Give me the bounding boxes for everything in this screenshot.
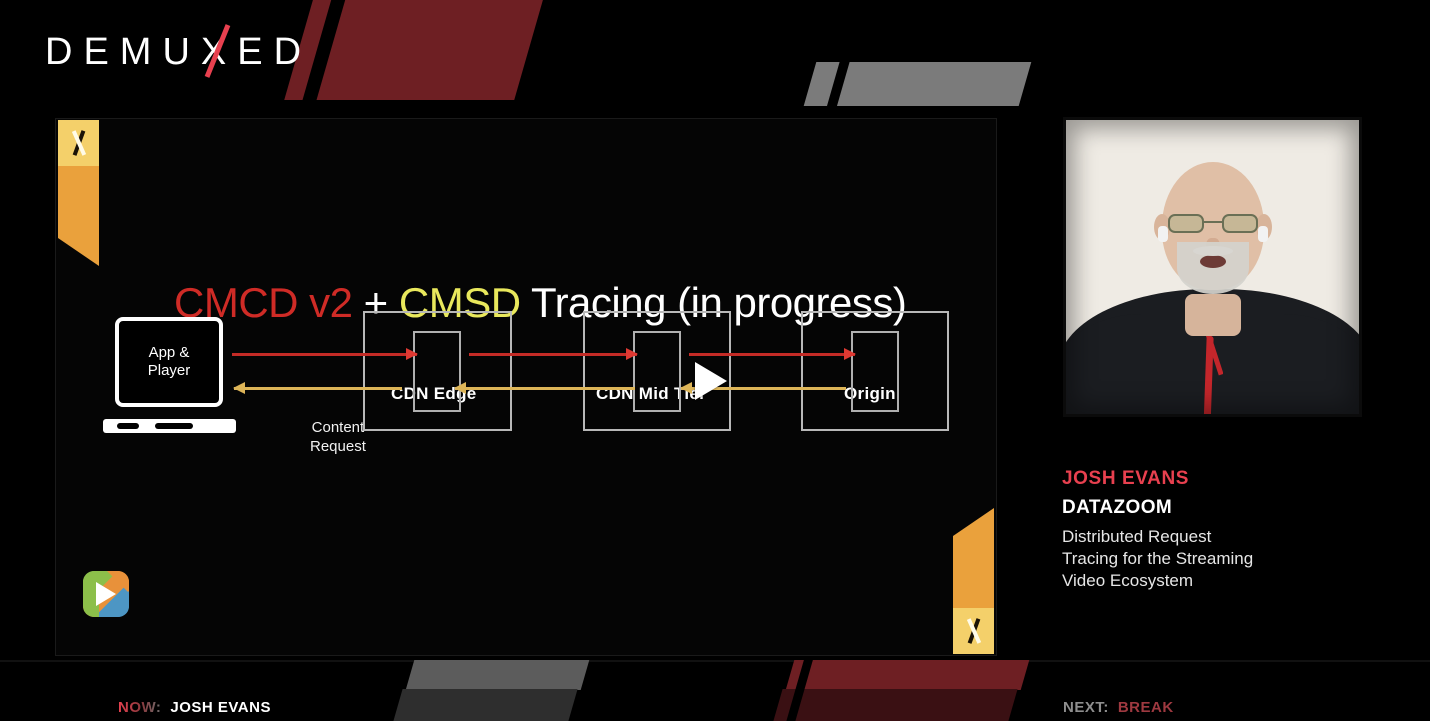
demuxed-logo: DEMUXED	[45, 33, 312, 71]
speaker-webcam-video[interactable]	[1063, 117, 1362, 417]
speaker-info-panel: JOSH EVANS DATAZOOM Distributed Request …	[1062, 466, 1402, 591]
speaker-name: JOSH EVANS	[1062, 466, 1402, 492]
client-label: App &Player	[148, 344, 191, 380]
webcam-vignette	[1066, 120, 1359, 414]
talk-line-2: Tracing for the Streaming	[1062, 549, 1253, 568]
presentation-slide-video[interactable]: CMCD v2 + CMSD Tracing (in progress) App…	[55, 118, 997, 656]
content-request-label: ContentRequest	[310, 419, 366, 457]
next-label: NEXT:	[1063, 699, 1109, 716]
bg-shape-red-bottom-dark	[773, 689, 1017, 721]
node-inner-origin	[851, 331, 899, 412]
now-playing-row: NOW: JOSH EVANS	[118, 699, 271, 716]
talk-line-3: Video Ecosystem	[1062, 571, 1193, 590]
mouse-cursor-icon	[695, 362, 727, 400]
tracing-diagram: App &Player ContentRequest CDN Edge CDN …	[56, 119, 997, 656]
request-arrow-edge-to-mid	[469, 353, 637, 356]
slide-content: CMCD v2 + CMSD Tracing (in progress) App…	[56, 119, 996, 655]
logo-x-mark: X	[201, 33, 237, 71]
laptop-base	[103, 419, 236, 433]
bg-hairline	[0, 660, 1430, 662]
logo-text-right: ED	[237, 33, 312, 71]
datazoom-logo-icon	[83, 571, 129, 617]
play-triangle-icon	[96, 582, 116, 606]
now-value: JOSH EVANS	[170, 699, 271, 716]
bg-shape-red-bottom	[786, 660, 1030, 690]
bg-shape-gray-bottom	[406, 660, 590, 690]
client-laptop-icon: App &Player	[103, 317, 236, 433]
logo-text-left: DEMU	[45, 33, 201, 71]
next-up-row: NEXT: BREAK	[1063, 699, 1174, 716]
response-arrow-edge-to-client	[234, 387, 402, 390]
now-label: NOW:	[118, 699, 161, 716]
node-inner-cdn-mid-tier	[633, 331, 681, 412]
laptop-screen: App &Player	[115, 317, 223, 407]
node-inner-cdn-edge	[413, 331, 461, 412]
speaker-company: DATAZOOM	[1062, 494, 1402, 523]
bg-shape-gray-bottom-dark	[393, 689, 577, 721]
talk-line-1: Distributed Request	[1062, 527, 1211, 546]
request-arrow-client-to-edge	[232, 353, 417, 356]
speaker-talk-title: Distributed Request Tracing for the Stre…	[1062, 526, 1402, 591]
response-arrow-mid-to-edge	[455, 387, 635, 390]
next-value: BREAK	[1118, 699, 1174, 716]
request-arrow-mid-to-origin	[689, 353, 855, 356]
